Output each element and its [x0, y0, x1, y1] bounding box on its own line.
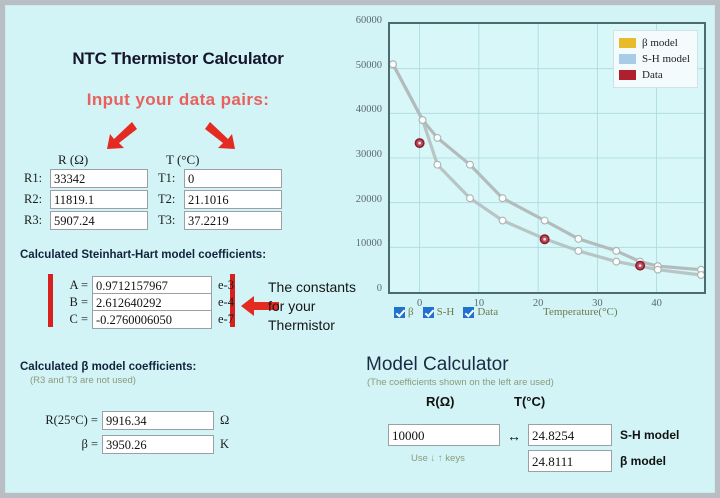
t1-label: T1:	[158, 171, 184, 186]
t1-input[interactable]: 0	[184, 169, 282, 188]
t2-input[interactable]: 21.1016	[184, 190, 282, 209]
input-prompt-label: Input your data pairs:	[38, 90, 318, 110]
r3-label: R3:	[24, 213, 50, 228]
checkbox-label-beta: β	[408, 306, 414, 318]
coefficient-row-c: C = -0.2760006050 e-7	[58, 310, 238, 331]
column-header-resistance: R (Ω)	[58, 152, 88, 168]
arrow-down-right-icon	[204, 118, 238, 152]
legend-label-beta: β model	[642, 37, 678, 49]
legend-item[interactable]: β model	[619, 35, 690, 51]
legend-swatch-data	[619, 70, 636, 80]
r1-label: R1:	[24, 171, 50, 186]
mc-resistance-input[interactable]: 10000	[388, 424, 500, 446]
beta-unit: K	[220, 437, 229, 452]
y-tick-label: 0	[338, 283, 382, 294]
legend-label-data: Data	[642, 69, 663, 81]
beta-input[interactable]: 3950.26	[102, 435, 214, 454]
y-tick-label: 10000	[338, 238, 382, 249]
mc-keys-hint: Use ↓ ↑ keys	[411, 453, 465, 464]
mc-model-label-sh: S-H model	[620, 428, 679, 442]
application-window: NTC Thermistor Calculator Input your dat…	[0, 0, 720, 498]
t2-label: T2:	[158, 192, 184, 207]
beta-label: β =	[22, 437, 98, 452]
mc-temperature-sh-output[interactable]: 24.8254	[528, 424, 612, 446]
data-pair-row: R1: 33342 T1: 0	[24, 169, 314, 190]
red-accent-bar-left	[48, 274, 53, 327]
resistance-temperature-chart: β model S-H model Data 01000020000300004…	[338, 10, 720, 340]
checkbox-data[interactable]	[463, 307, 474, 318]
mc-column-header-temperature: T(°C)	[514, 394, 545, 409]
r25-input[interactable]: 9916.34	[102, 411, 214, 430]
legend-swatch-beta	[619, 38, 636, 48]
model-calculator-title: Model Calculator	[366, 354, 509, 376]
checkbox-beta[interactable]	[394, 307, 405, 318]
legend-label-sh: S-H model	[642, 53, 690, 65]
coefficient-b-label: B =	[58, 295, 88, 310]
chart-series-toggles: β S-H Data	[394, 306, 507, 318]
coefficient-c-exponent: e-7	[218, 312, 234, 327]
r25-label: R(25°C) =	[22, 413, 98, 428]
model-calculator-subtitle: (The coefficients shown on the left are …	[367, 377, 554, 388]
chart-x-axis-label: Temperature(°C)	[543, 306, 617, 318]
t3-label: T3:	[158, 213, 184, 228]
app-inner-panel: NTC Thermistor Calculator Input your dat…	[5, 5, 715, 493]
legend-item[interactable]: Data	[619, 67, 690, 83]
beta-row-beta: β = 3950.26 K	[22, 435, 262, 456]
y-tick-label: 60000	[338, 15, 382, 26]
chart-plot-area: β model S-H model Data	[388, 22, 706, 294]
coefficient-c-label: C =	[58, 312, 88, 327]
r3-input[interactable]: 5907.24	[50, 211, 148, 230]
r2-label: R2:	[24, 192, 50, 207]
t3-input[interactable]: 37.2219	[184, 211, 282, 230]
checkbox-label-data: Data	[477, 306, 498, 318]
sh-section-heading: Calculated Steinhart-Hart model coeffici…	[20, 249, 266, 261]
arrow-down-left-icon	[104, 118, 138, 152]
coefficient-c-input[interactable]: -0.2760006050	[92, 310, 212, 329]
checkbox-label-sh: S-H	[437, 306, 455, 318]
chart-legend: β model S-H model Data	[613, 30, 698, 88]
y-tick-label: 40000	[338, 104, 382, 115]
x-tick-label: 40	[645, 298, 669, 309]
checkbox-sh[interactable]	[423, 307, 434, 318]
page-title: NTC Thermistor Calculator	[38, 49, 318, 69]
column-header-temperature: T (°C)	[166, 152, 199, 168]
coefficient-a-exponent: e-3	[218, 278, 234, 293]
beta-section-heading: Calculated β model coefficients:	[20, 361, 196, 373]
legend-item[interactable]: S-H model	[619, 51, 690, 67]
r1-input[interactable]: 33342	[50, 169, 148, 188]
r2-input[interactable]: 11819.1	[50, 190, 148, 209]
bidirectional-arrow-icon: ↔	[507, 428, 521, 444]
data-pair-row: R3: 5907.24 T3: 37.2219	[24, 211, 314, 232]
mc-column-header-resistance: R(Ω)	[426, 394, 454, 409]
coefficient-a-label: A =	[58, 278, 88, 293]
r25-unit: Ω	[220, 413, 229, 428]
beta-section-subnote: (R3 and T3 are not used)	[30, 375, 136, 386]
mc-temperature-beta-output[interactable]: 24.8111	[528, 450, 612, 472]
data-pair-row: R2: 11819.1 T2: 21.1016	[24, 190, 314, 211]
y-tick-label: 30000	[338, 149, 382, 160]
y-tick-label: 50000	[338, 60, 382, 71]
mc-model-label-beta: β model	[620, 454, 666, 468]
beta-row-r25: R(25°C) = 9916.34 Ω	[22, 411, 262, 432]
legend-swatch-sh	[619, 54, 636, 64]
y-tick-label: 20000	[338, 194, 382, 205]
coefficient-b-exponent: e-4	[218, 295, 234, 310]
